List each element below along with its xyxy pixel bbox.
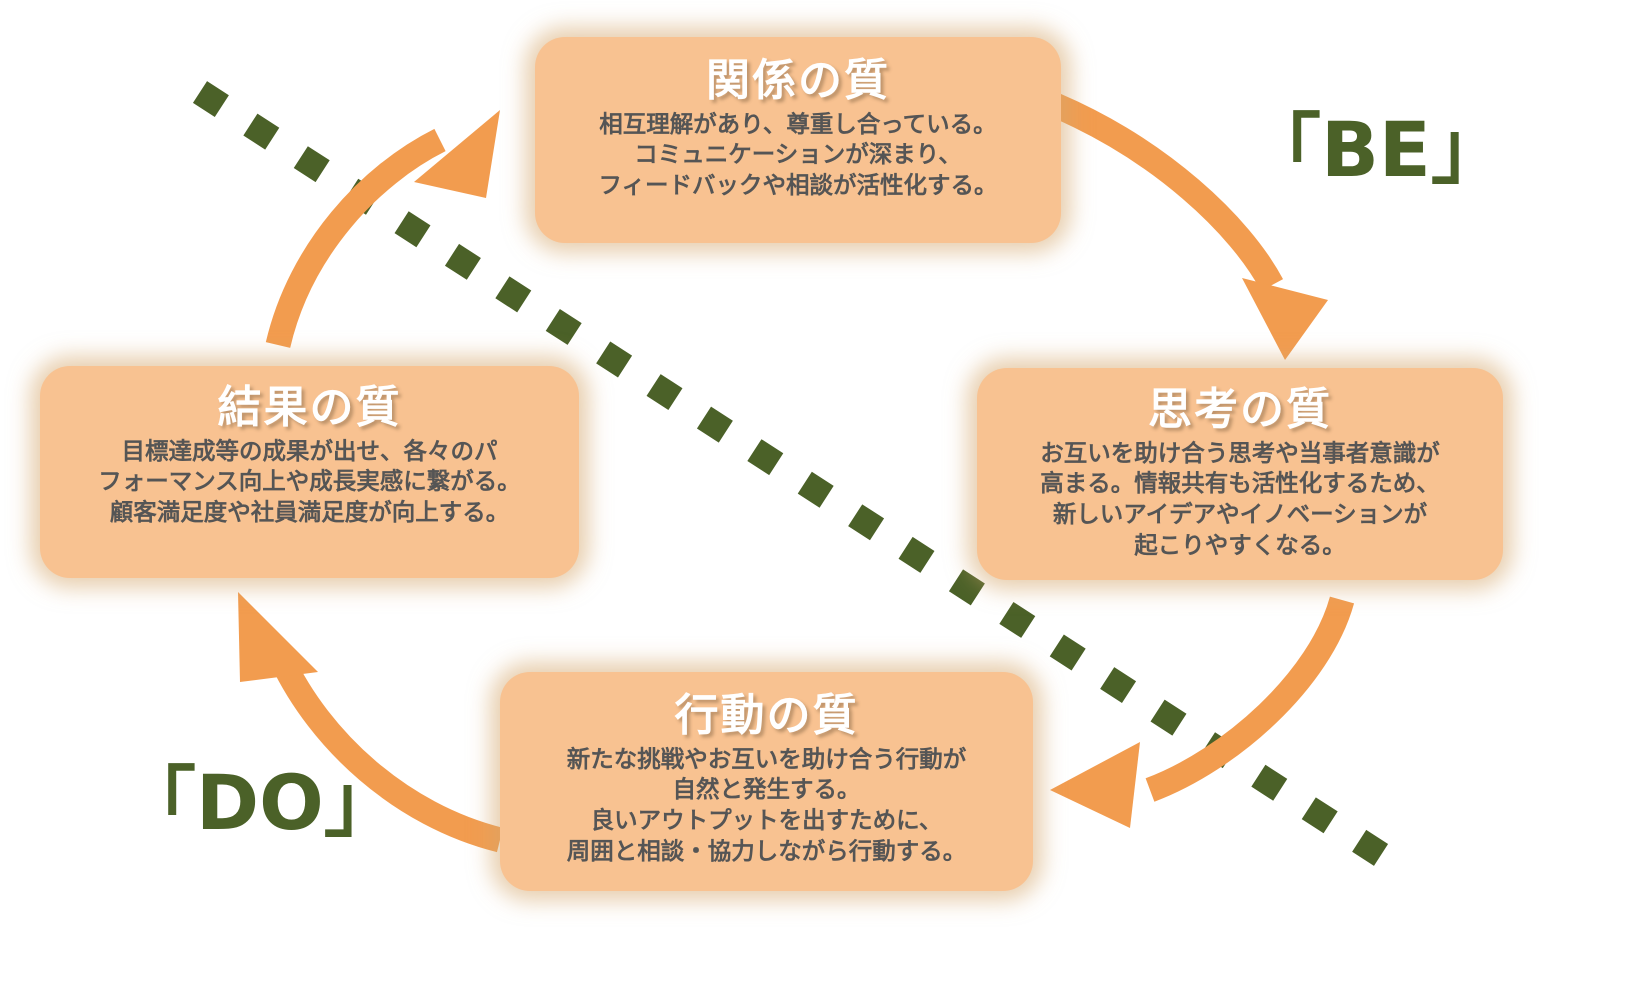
quality-box-thinking[interactable]: 思考の質 お互いを助け合う思考や当事者意識が 高まる。情報共有も活性化するため、… xyxy=(977,368,1503,580)
arrow-result-to-relationship xyxy=(278,110,500,345)
quality-box-title: 結果の質 xyxy=(218,382,402,434)
quality-box-action[interactable]: 行動の質 新たな挑戦やお互いを助け合う行動が 自然と発生する。 良いアウトプット… xyxy=(500,672,1033,891)
quality-box-relationship[interactable]: 関係の質 相互理解があり、尊重し合っている。 コミュニケーションが深まり、 フィ… xyxy=(535,37,1061,243)
quality-box-title: 関係の質 xyxy=(706,55,890,107)
quality-box-result[interactable]: 結果の質 目標達成等の成果が出せ、各々のパ フォーマンス向上や成長実感に繋がる。… xyxy=(40,366,579,578)
quality-box-body: お互いを助け合う思考や当事者意識が 高まる。情報共有も活性化するため、 新しいア… xyxy=(1040,438,1440,560)
diagram-canvas: 関係の質 相互理解があり、尊重し合っている。 コミュニケーションが深まり、 フィ… xyxy=(0,0,1648,1000)
quality-box-body: 新たな挑戦やお互いを助け合う行動が 自然と発生する。 良いアウトプットを出すため… xyxy=(567,744,967,866)
quality-box-body: 相互理解があり、尊重し合っている。 コミュニケーションが深まり、 フィードバック… xyxy=(598,109,997,201)
quality-box-title: 思考の質 xyxy=(1148,384,1332,436)
arrow-thinking-to-action xyxy=(1050,600,1342,828)
mode-label-do: 「DO」 xyxy=(120,765,400,841)
quality-box-body: 目標達成等の成果が出せ、各々のパ フォーマンス向上や成長実感に繋がる。 顧客満足… xyxy=(98,436,521,528)
mode-label-be: 「BE」 xyxy=(1245,112,1507,188)
quality-box-title: 行動の質 xyxy=(675,690,859,742)
